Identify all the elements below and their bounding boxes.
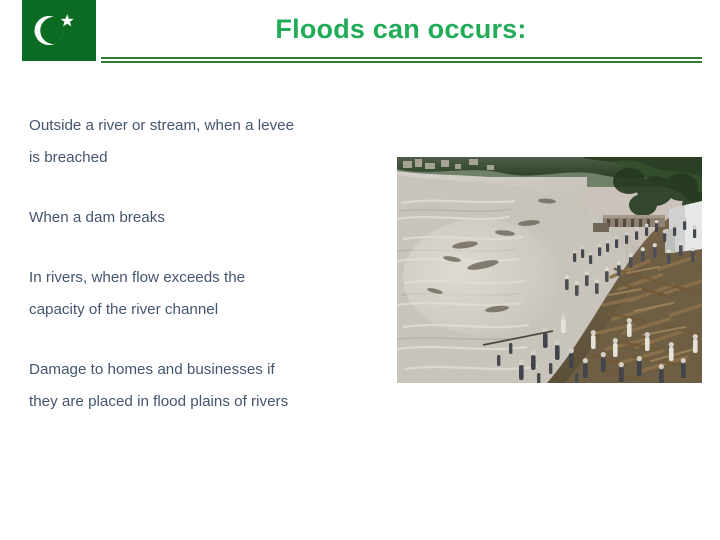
bullet-line: When a dam breaks [29, 202, 389, 234]
page-title: Floods can occurs: [100, 12, 702, 46]
bullet-line: Damage to homes and businesses if [29, 354, 389, 386]
bullet-line: is breached [29, 142, 389, 174]
divider-line-top [101, 57, 702, 59]
body-text-column: Outside a river or stream, when a levee … [29, 110, 389, 418]
bullet-line: capacity of the river channel [29, 294, 389, 326]
bullet-item: Outside a river or stream, when a levee … [29, 110, 389, 174]
bullet-item: In rivers, when flow exceeds the capacit… [29, 262, 389, 326]
bullet-item: Damage to homes and businesses if they a… [29, 354, 389, 418]
slide-header: Floods can occurs: [0, 0, 720, 75]
bullet-line: In rivers, when flow exceeds the [29, 262, 389, 294]
flood-photograph [397, 157, 702, 383]
bullet-item: When a dam breaks [29, 202, 389, 234]
pakistan-flag-icon [22, 0, 96, 61]
bullet-line: Outside a river or stream, when a levee [29, 110, 389, 142]
bullet-line: they are placed in flood plains of river… [29, 386, 389, 418]
title-divider [101, 57, 702, 63]
divider-line-bottom [101, 61, 702, 63]
